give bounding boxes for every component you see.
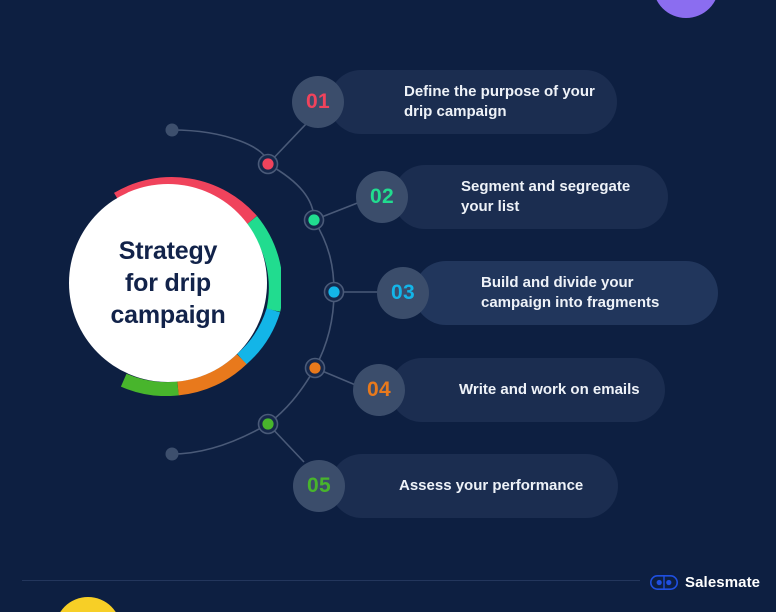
- step-04-badge[interactable]: 04: [353, 364, 405, 416]
- step-02-pill[interactable]: Segment and segregate your list: [393, 165, 668, 229]
- brand-logo[interactable]: Salesmate: [650, 570, 760, 594]
- step-05-pill[interactable]: Assess your performance: [330, 454, 618, 518]
- step-05-badge[interactable]: 05: [293, 460, 345, 512]
- step-02-label: Segment and segregate your list: [461, 177, 630, 217]
- node-dot-02: [305, 211, 324, 230]
- hub-title-line-2: for drip: [125, 267, 211, 299]
- step-05-number: 05: [307, 474, 331, 498]
- step-03-label: Build and divide your campaign into frag…: [481, 273, 659, 313]
- footer-divider: [22, 580, 640, 581]
- endpoint-dot-top: [166, 124, 179, 137]
- hub-title-line-3: campaign: [110, 299, 225, 331]
- step-05-label: Assess your performance: [399, 476, 583, 496]
- step-01-badge[interactable]: 01: [292, 76, 344, 128]
- wire-arc-bottom-lead: [172, 424, 268, 454]
- step-02-badge[interactable]: 02: [356, 171, 408, 223]
- node-dot-05: [259, 415, 278, 434]
- wire-arc-3-4: [315, 292, 334, 368]
- step-04-number: 04: [367, 378, 391, 402]
- endpoint-dot-bottom: [166, 448, 179, 461]
- node-dot-03: [325, 283, 344, 302]
- step-04-label: Write and work on emails: [459, 380, 640, 400]
- step-03-pill[interactable]: Build and divide your campaign into frag…: [414, 261, 718, 325]
- wire-arc-2-3: [314, 220, 334, 292]
- center-hub: Strategy for drip campaign: [55, 170, 281, 396]
- salesmate-logo-icon: [650, 575, 678, 590]
- hub-title: Strategy for drip campaign: [55, 170, 281, 396]
- node-dot-04: [306, 359, 325, 378]
- step-02-number: 02: [370, 185, 394, 209]
- step-01-number: 01: [306, 90, 330, 114]
- infographic-canvas: Strategy for drip campaign Define the pu…: [0, 0, 776, 612]
- step-01-label: Define the purpose of your drip campaign: [404, 82, 595, 122]
- step-01-pill[interactable]: Define the purpose of your drip campaign: [329, 70, 617, 134]
- brand-name: Salesmate: [685, 574, 760, 591]
- step-03-badge[interactable]: 03: [377, 267, 429, 319]
- step-04-pill[interactable]: Write and work on emails: [390, 358, 665, 422]
- step-03-number: 03: [391, 281, 415, 305]
- hub-title-line-1: Strategy: [119, 235, 217, 267]
- wire-arc-top-lead: [172, 130, 268, 164]
